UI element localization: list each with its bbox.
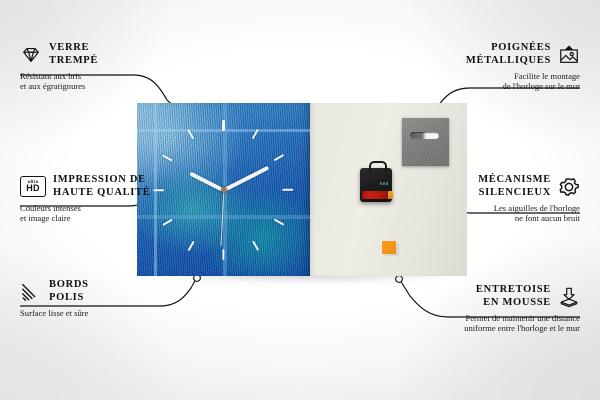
ultra-hd-icon-main-text: HD [26, 184, 40, 193]
picture-frame-icon [558, 44, 580, 66]
clock-mechanism [360, 168, 392, 202]
polished-edges-icon [20, 281, 42, 303]
foam-spacer [382, 241, 396, 254]
feature-title: MÉCANISME SILENCIEUX [478, 174, 551, 199]
clock-center-cap [221, 187, 227, 193]
feature-metal-handles: POIGNÉES MÉTALLIQUES Facilite le montage… [400, 42, 580, 92]
feature-hd-print: ultra HD IMPRESSION DE HAUTE QUALITÉ Cou… [20, 174, 195, 224]
mechanism-hanger-loop [369, 161, 387, 172]
battery-terminal [388, 191, 393, 199]
feature-silent-mechanism: MÉCANISME SILENCIEUX Les aiguilles de l'… [395, 174, 580, 224]
infographic-canvas: VERRE TREMPÉ Résistant aux bris et aux é… [0, 0, 600, 400]
feature-tempered-glass: VERRE TREMPÉ Résistant aux bris et aux é… [20, 42, 180, 92]
feature-description: Les aiguilles de l'horloge ne font aucun… [395, 203, 580, 224]
feature-title: BORDS POLIS [49, 279, 89, 304]
feature-polished-edges: BORDS POLIS Surface lisse et sûre [20, 279, 180, 318]
metal-hanger-plate [402, 118, 449, 166]
feature-description: Permet de maintenir une distance uniform… [380, 313, 580, 334]
down-arrow-stack-icon [558, 286, 580, 308]
feature-title: ENTRETOISE EN MOUSSE [476, 284, 551, 309]
hanger-keyhole-slot [410, 132, 439, 139]
ultra-hd-icon: ultra HD [20, 176, 46, 197]
mechanism-label-strip [380, 182, 389, 185]
feature-description: Facilite le montage de l'horloge sur le … [400, 71, 580, 92]
feature-title: POIGNÉES MÉTALLIQUES [466, 42, 551, 67]
feature-foam-spacer: ENTRETOISE EN MOUSSE Permet de maintenir… [380, 284, 580, 334]
diamond-icon [20, 44, 42, 66]
gear-icon [558, 176, 580, 198]
feature-description: Résistant aux bris et aux égratignures [20, 71, 180, 92]
feature-title: VERRE TREMPÉ [49, 42, 98, 67]
feature-description: Surface lisse et sûre [20, 308, 180, 319]
feature-title: IMPRESSION DE HAUTE QUALITÉ [53, 174, 151, 199]
feature-description: Couleurs intenses et image claire [20, 203, 195, 224]
battery [362, 191, 388, 199]
